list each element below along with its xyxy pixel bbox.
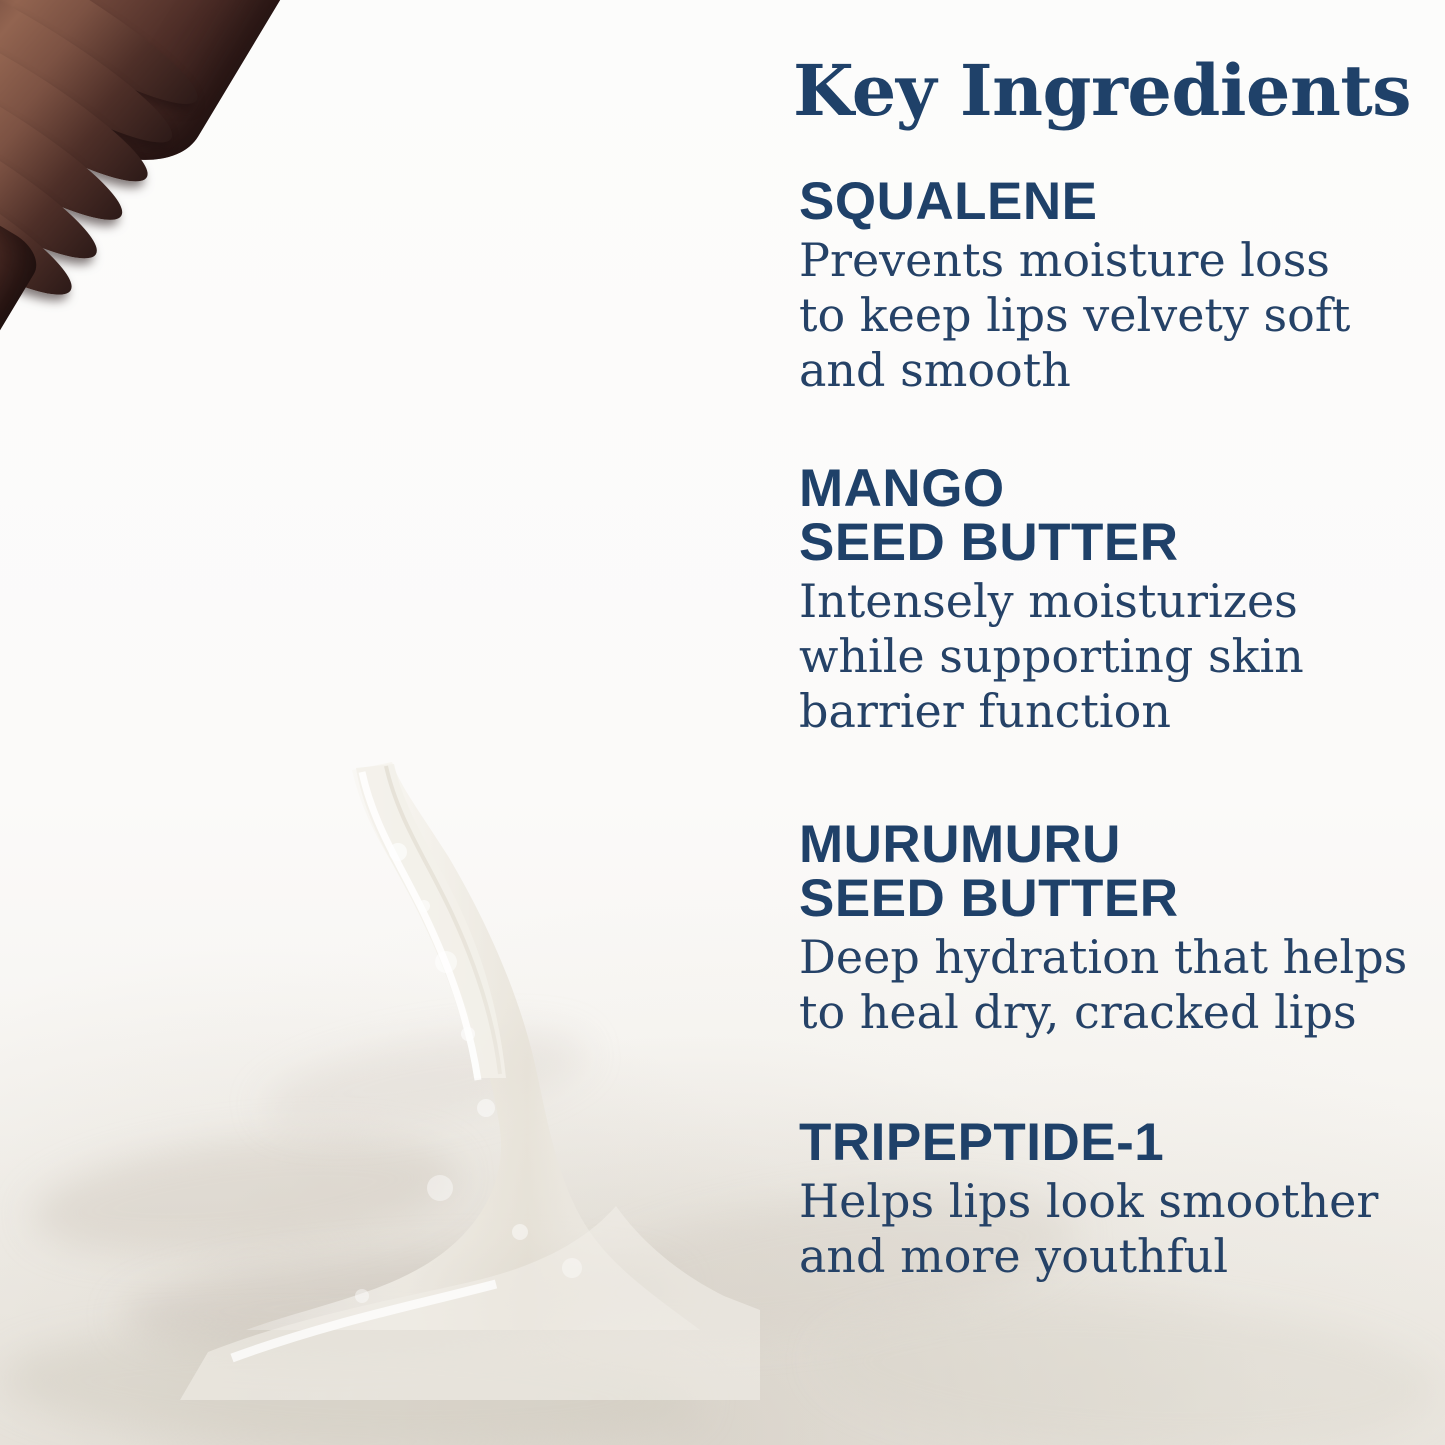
ingredient-description-line: to keep lips velvety soft bbox=[799, 288, 1404, 343]
ingredient-block-tripeptide-1: TRIPEPTIDE-1 Helps lips look smoother an… bbox=[799, 1116, 1404, 1284]
bottle-threaded-neck bbox=[0, 0, 213, 356]
ingredients-panel: Key Ingredients SQUALENE Prevents moistu… bbox=[793, 0, 1408, 1445]
ingredient-name-line: SQUALENE bbox=[799, 175, 1404, 229]
ingredient-description: Deep hydration that helps to heal dry, c… bbox=[799, 930, 1404, 1039]
ingredient-name-line: SEED BUTTER bbox=[799, 516, 1404, 570]
ingredient-description-line: Deep hydration that helps bbox=[799, 930, 1404, 985]
ingredient-name-line: SEED BUTTER bbox=[799, 872, 1404, 926]
ingredient-description-line: barrier function bbox=[799, 684, 1404, 739]
ingredient-description-line: Helps lips look smoother bbox=[799, 1174, 1404, 1229]
ingredient-description-line: while supporting skin bbox=[799, 629, 1404, 684]
ingredient-description-line: and smooth bbox=[799, 343, 1404, 398]
ingredient-block-squalene: SQUALENE Prevents moisture loss to keep … bbox=[799, 175, 1404, 397]
ingredient-name: MURUMURU SEED BUTTER bbox=[799, 818, 1404, 926]
product-ingredients-infographic: Key Ingredients SQUALENE Prevents moistu… bbox=[0, 0, 1445, 1445]
ingredient-name-line: TRIPEPTIDE-1 bbox=[799, 1116, 1404, 1170]
ingredient-name-line: MURUMURU bbox=[799, 818, 1404, 872]
ingredient-block-mango-seed-butter: MANGO SEED BUTTER Intensely moisturizes … bbox=[799, 462, 1404, 738]
ingredient-description-line: to heal dry, cracked lips bbox=[799, 985, 1404, 1040]
ingredient-name: MANGO SEED BUTTER bbox=[799, 462, 1404, 570]
ingredient-description: Intensely moisturizes while supporting s… bbox=[799, 574, 1404, 738]
ingredient-description-line: and more youthful bbox=[799, 1229, 1404, 1284]
page-title: Key Ingredients bbox=[793, 56, 1408, 126]
ingredient-block-murumuru-seed-butter: MURUMURU SEED BUTTER Deep hydration that… bbox=[799, 818, 1404, 1040]
ingredient-name-line: MANGO bbox=[799, 462, 1404, 516]
ingredient-description-line: Intensely moisturizes bbox=[799, 574, 1404, 629]
ingredient-description: Prevents moisture loss to keep lips velv… bbox=[799, 233, 1404, 397]
ingredient-name: TRIPEPTIDE-1 bbox=[799, 1116, 1404, 1170]
ingredient-name: SQUALENE bbox=[799, 175, 1404, 229]
ingredient-description-line: Prevents moisture loss bbox=[799, 233, 1404, 288]
ingredient-description: Helps lips look smoother and more youthf… bbox=[799, 1174, 1404, 1283]
